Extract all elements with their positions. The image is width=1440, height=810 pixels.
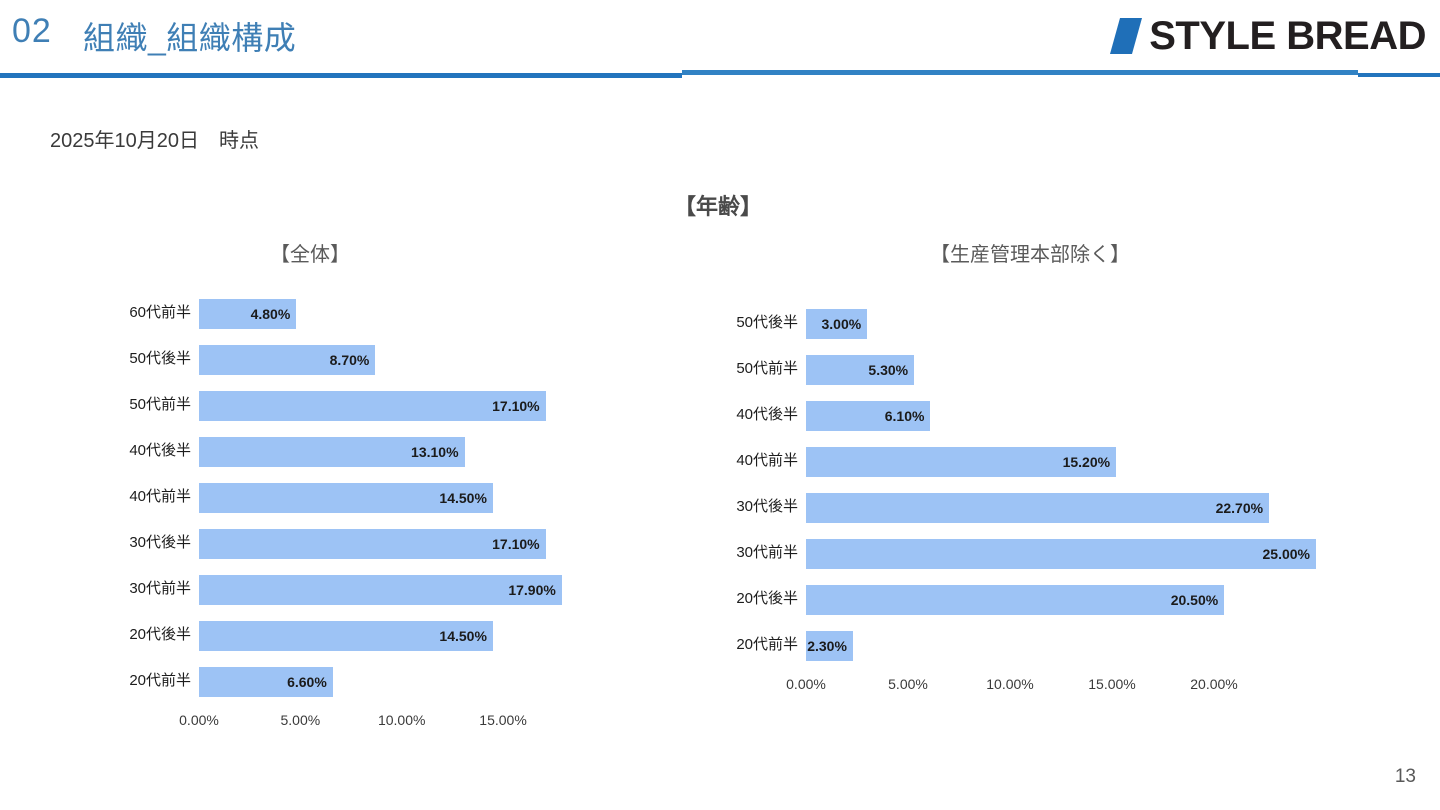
section-number: 02 [12, 12, 52, 51]
bar: 5.30% [806, 355, 914, 385]
bar-value-label: 6.60% [287, 674, 327, 690]
x-axis-tick: 10.00% [986, 676, 1033, 692]
bar: 14.50% [199, 483, 493, 513]
bar: 17.90% [199, 575, 562, 605]
bar: 2.30% [806, 631, 853, 661]
header-divider [0, 70, 1440, 78]
bar: 3.00% [806, 309, 867, 339]
bar-category-label: 30代前半 [736, 530, 798, 576]
bar-row: 40代前半15.20% [620, 438, 1440, 484]
x-axis-tick: 10.00% [378, 712, 425, 728]
bar: 8.70% [199, 345, 375, 375]
bar: 14.50% [199, 621, 493, 651]
bar-value-label: 8.70% [330, 352, 370, 368]
bar-value-label: 14.50% [439, 490, 486, 506]
bar-category-label: 20代前半 [129, 658, 191, 704]
x-axis-tick: 5.00% [280, 712, 320, 728]
brand-logo: STYLE BREAD [1109, 12, 1426, 60]
x-axis-tick: 0.00% [786, 676, 826, 692]
bar-chart-overall: 60代前半4.80%50代後半8.70%50代前半17.10%40代後半13.1… [0, 270, 620, 738]
bar-category-label: 50代後半 [736, 300, 798, 346]
bar-category-label: 50代後半 [129, 336, 191, 382]
bar-row: 40代前半14.50% [0, 474, 620, 520]
bar-row: 40代後半6.10% [620, 392, 1440, 438]
bar-category-label: 50代前半 [129, 382, 191, 428]
bar-value-label: 13.10% [411, 444, 458, 460]
bar-category-label: 40代後半 [736, 392, 798, 438]
bar: 6.10% [806, 401, 930, 431]
slash-parallelogram-icon [1109, 16, 1143, 56]
bar-row: 50代前半17.10% [0, 382, 620, 428]
bar: 15.20% [806, 447, 1116, 477]
bar: 20.50% [806, 585, 1224, 615]
page-number: 13 [1395, 766, 1416, 788]
x-axis-tick: 15.00% [1088, 676, 1135, 692]
bar-value-label: 14.50% [439, 628, 486, 644]
bar-value-label: 3.00% [821, 316, 861, 332]
bar-value-label: 22.70% [1216, 500, 1263, 516]
bar-row: 20代前半2.30% [620, 622, 1440, 668]
bar-row: 20代前半6.60% [0, 658, 620, 704]
x-axis-tick: 0.00% [179, 712, 219, 728]
bar-category-label: 40代前半 [129, 474, 191, 520]
x-axis-tick: 15.00% [479, 712, 526, 728]
bar-chart-excluding: 50代後半3.00%50代前半5.30%40代後半6.10%40代前半15.20… [620, 270, 1440, 702]
bar-row: 20代後半14.50% [0, 612, 620, 658]
bar-value-label: 6.10% [885, 408, 925, 424]
bar-row: 30代後半22.70% [620, 484, 1440, 530]
bar-category-label: 30代後半 [129, 520, 191, 566]
bar-value-label: 17.90% [508, 582, 555, 598]
bar: 6.60% [199, 667, 333, 697]
bar-category-label: 40代前半 [736, 438, 798, 484]
bar-value-label: 17.10% [492, 398, 539, 414]
bar-row: 30代後半17.10% [0, 520, 620, 566]
x-axis: 0.00%5.00%10.00%15.00% [0, 704, 620, 738]
bar-category-label: 20代前半 [736, 622, 798, 668]
chart-title-overall: 【全体】 [0, 240, 620, 270]
bar: 17.10% [199, 391, 546, 421]
bar-value-label: 2.30% [807, 638, 847, 654]
bar-row: 50代前半5.30% [620, 346, 1440, 392]
bar-category-label: 20代後半 [736, 576, 798, 622]
bar-row: 20代後半20.50% [620, 576, 1440, 622]
bar-category-label: 50代前半 [736, 346, 798, 392]
bar-row: 30代前半17.90% [0, 566, 620, 612]
bar-value-label: 25.00% [1263, 546, 1310, 562]
bar-value-label: 4.80% [251, 306, 291, 322]
chart-panel-excluding: 【生産管理本部除く】 50代後半3.00%50代前半5.30%40代後半6.10… [620, 240, 1440, 702]
bar-value-label: 17.10% [492, 536, 539, 552]
bar: 22.70% [806, 493, 1269, 523]
chart-title-excluding: 【生産管理本部除く】 [620, 240, 1440, 270]
bar-row: 60代前半4.80% [0, 290, 620, 336]
brand-logo-text: STYLE BREAD [1149, 16, 1426, 56]
slide-header: 02 組織_組織構成 STYLE BREAD [0, 0, 1440, 78]
page-title: 組織_組織構成 [83, 13, 296, 59]
bar-category-label: 30代前半 [129, 566, 191, 612]
bar-category-label: 30代後半 [736, 484, 798, 530]
bar-category-label: 20代後半 [129, 612, 191, 658]
bar: 17.10% [199, 529, 546, 559]
bar: 4.80% [199, 299, 296, 329]
x-axis: 0.00%5.00%10.00%15.00%20.00% [620, 668, 1440, 702]
x-axis-tick: 5.00% [888, 676, 928, 692]
bar-row: 30代前半25.00% [620, 530, 1440, 576]
x-axis-tick: 20.00% [1190, 676, 1237, 692]
main-chart-title: 【年齢】 [0, 189, 1440, 221]
bar-row: 40代後半13.10% [0, 428, 620, 474]
bar-row: 50代後半3.00% [620, 300, 1440, 346]
bar-category-label: 60代前半 [129, 290, 191, 336]
bar: 13.10% [199, 437, 465, 467]
bar-value-label: 5.30% [868, 362, 908, 378]
chart-panel-overall: 【全体】 60代前半4.80%50代後半8.70%50代前半17.10%40代後… [0, 240, 620, 738]
bar-category-label: 40代後半 [129, 428, 191, 474]
bar: 25.00% [806, 539, 1316, 569]
bar-value-label: 20.50% [1171, 592, 1218, 608]
date-note: 2025年10月20日 時点 [50, 124, 259, 153]
bar-row: 50代後半8.70% [0, 336, 620, 382]
bar-value-label: 15.20% [1063, 454, 1110, 470]
